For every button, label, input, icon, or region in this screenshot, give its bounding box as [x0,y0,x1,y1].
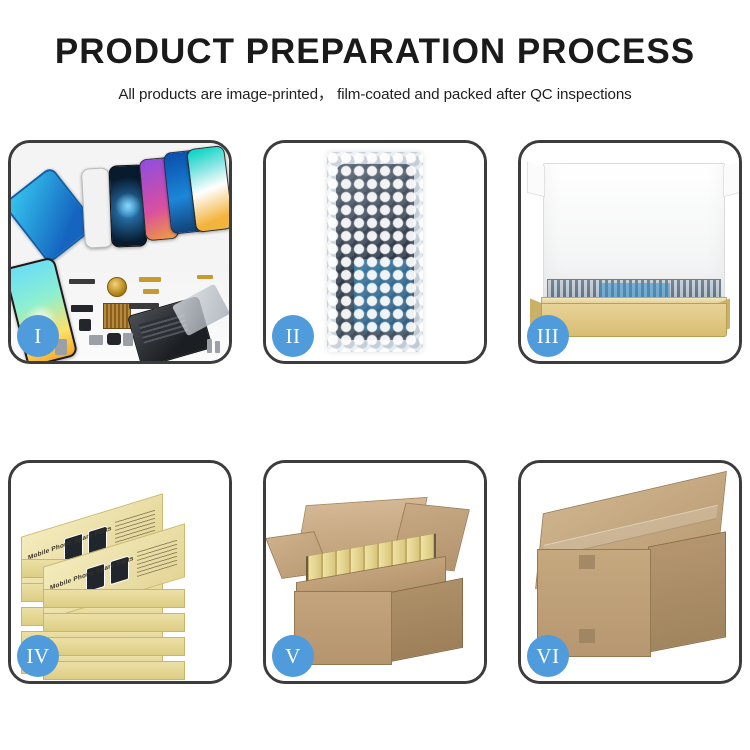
page-title: PRODUCT PREPARATION PROCESS [0,34,750,71]
step-badge-6: VI [527,635,569,677]
gold-flex-part [197,275,213,279]
step-panel-2[interactable]: II [263,140,487,364]
screw-part [207,339,212,353]
box-side [43,613,185,632]
carton-side-panel [389,578,463,662]
box-side [43,637,185,656]
vibrator-part [107,333,121,345]
steps-grid: I II [8,140,742,692]
step-badge-5: V [272,635,314,677]
step-badge-4: IV [17,635,59,677]
camera-module-part [71,305,93,312]
bubble-wrap-pouch [327,152,423,352]
step-panel-3[interactable]: III [518,140,742,364]
gold-connector-part [143,289,159,294]
box-spec-lines [137,539,177,577]
sim-tray-part [123,333,133,346]
step-badge-2: II [272,315,314,357]
box-side [43,661,185,680]
box-white-lid [543,163,725,297]
carton-seam-tab [579,629,595,643]
step-panel-5[interactable]: V [263,460,487,684]
carton-seam-tab [579,555,595,569]
antenna-flex-part [129,303,159,309]
product-preparation-infographic: PRODUCT PREPARATION PROCESS All products… [0,0,750,750]
gold-connector-part [139,277,161,282]
flex-cable-part [69,279,95,284]
carton-side-panel [648,531,726,652]
box-front-panel [541,303,727,337]
box-side [43,589,185,608]
bubble-wrap-highlights [327,152,423,352]
step-panel-1[interactable]: I [8,140,232,364]
chip-grid-part [103,303,131,329]
metal-bracket-part [89,335,103,345]
header: PRODUCT PREPARATION PROCESS All products… [0,34,750,104]
step-panel-4[interactable]: Mobile Phone Spare Parts Mobile Phone Sp… [8,460,232,684]
step-panel-6[interactable]: VI [518,460,742,684]
step-badge-1: I [17,315,59,357]
small-component-part [79,319,91,331]
step-badge-3: III [527,315,569,357]
screw-part [215,341,220,353]
page-subtitle: All products are image-printed， film-coa… [0,82,750,104]
speaker-coil-part [107,277,127,297]
